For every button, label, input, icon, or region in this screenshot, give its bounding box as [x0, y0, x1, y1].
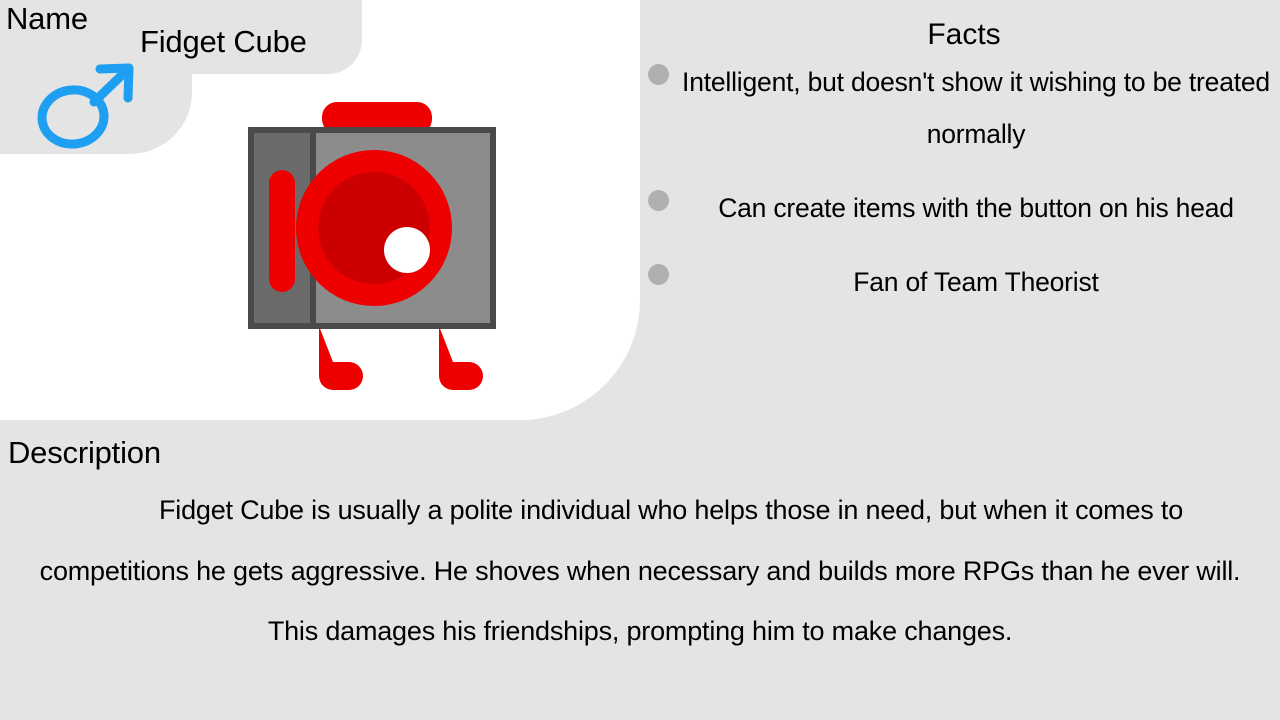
facts-list: Intelligent, but doesn't show it wishing… — [648, 56, 1280, 308]
bullet-icon — [648, 190, 669, 211]
fact-text: Fan of Team Theorist — [672, 256, 1280, 308]
character-illustration — [240, 92, 512, 404]
fact-text: Intelligent, but doesn't show it wishing… — [672, 56, 1280, 160]
description-body: Fidget Cube is usually a polite individu… — [36, 480, 1244, 662]
character-profile-card: Name Fidget Cube Facts Intellige — [0, 0, 1280, 720]
bullet-icon — [648, 64, 669, 85]
fact-item: Fan of Team Theorist — [648, 256, 1280, 308]
character-name: Fidget Cube — [140, 24, 307, 60]
name-label: Name — [6, 1, 88, 37]
fact-item: Can create items with the button on his … — [648, 182, 1280, 234]
description-section: Description Fidget Cube is usually a pol… — [0, 424, 1280, 720]
facts-title: Facts — [648, 18, 1280, 52]
description-title: Description — [8, 435, 161, 471]
facts-section: Facts Intelligent, but doesn't show it w… — [648, 10, 1280, 410]
fact-item: Intelligent, but doesn't show it wishing… — [648, 56, 1280, 160]
mars-male-symbol-icon — [32, 58, 142, 150]
bullet-icon — [648, 264, 669, 285]
fact-text: Can create items with the button on his … — [672, 182, 1280, 234]
